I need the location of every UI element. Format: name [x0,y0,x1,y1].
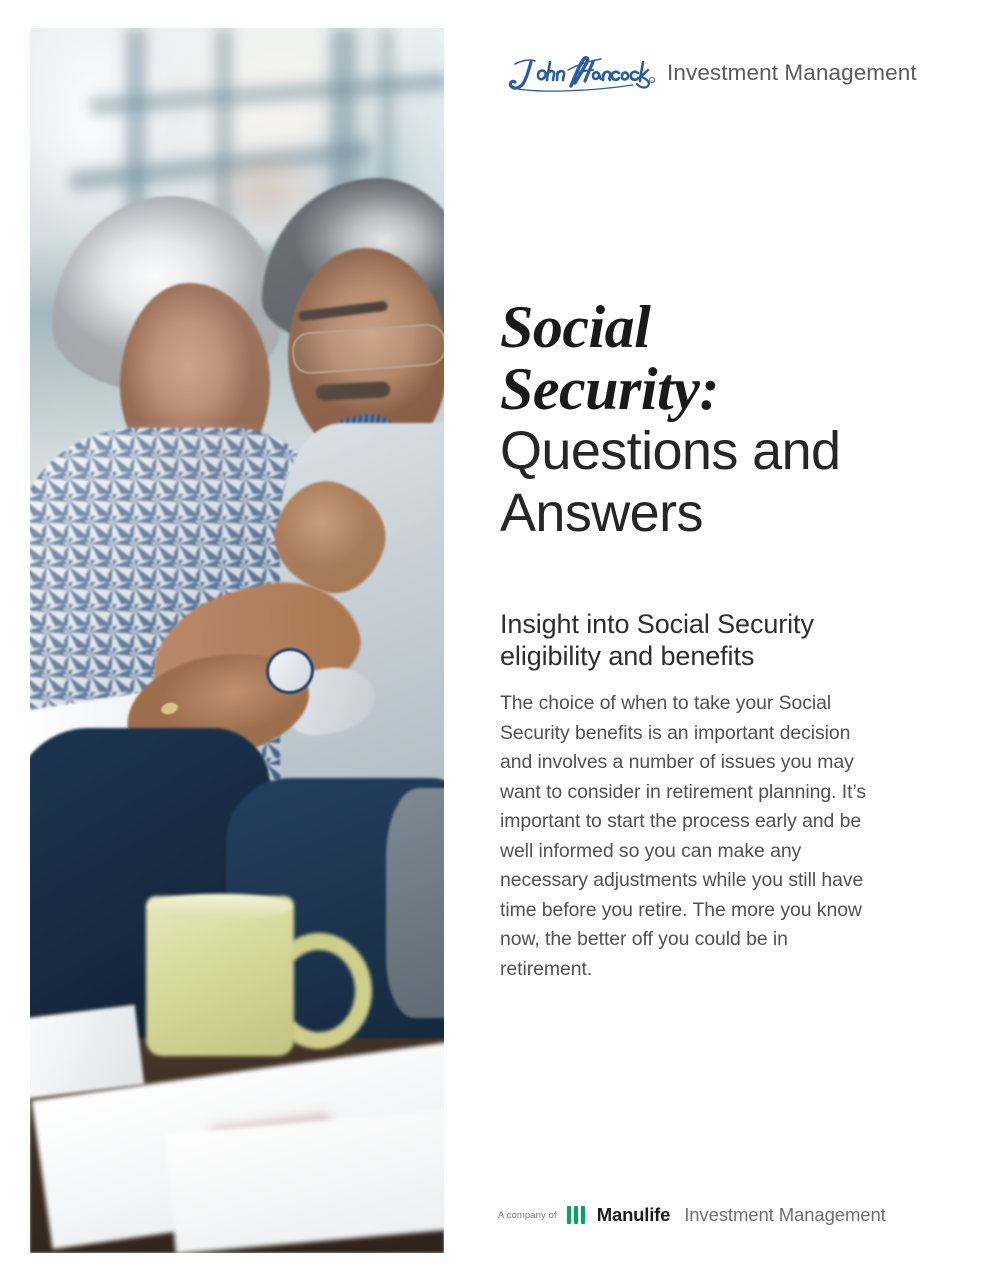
john-hancock-logo-icon: R [505,52,655,94]
cover-photo [30,28,444,1253]
footer-brand: A company of Manulife Investment Managem… [498,1204,886,1226]
grey-sleeve [386,788,444,1018]
header-brand-suffix: Investment Management [667,60,917,86]
header-brand: R Investment Management [505,52,917,94]
mug-rim [148,894,292,920]
footer-prefix-label: A company of [498,1210,557,1221]
page-subtitle: Insight into Social Security eligibility… [500,608,880,672]
coffee-mug [146,896,294,1056]
title-sans-line-2: Answers [500,482,900,544]
intro-paragraph: The choice of when to take your Social S… [500,689,872,984]
manulife-wordmark: Manulife [597,1204,670,1226]
title-sans-line-1: Questions and [500,420,900,482]
title-serif-line-2: Security: [500,358,900,420]
page-title: Social Security: Questions and Answers [500,296,900,544]
manulife-bars-icon [567,1206,585,1224]
title-serif-line-1: Social [500,296,900,358]
footer-brand-suffix: Investment Management [684,1204,886,1226]
